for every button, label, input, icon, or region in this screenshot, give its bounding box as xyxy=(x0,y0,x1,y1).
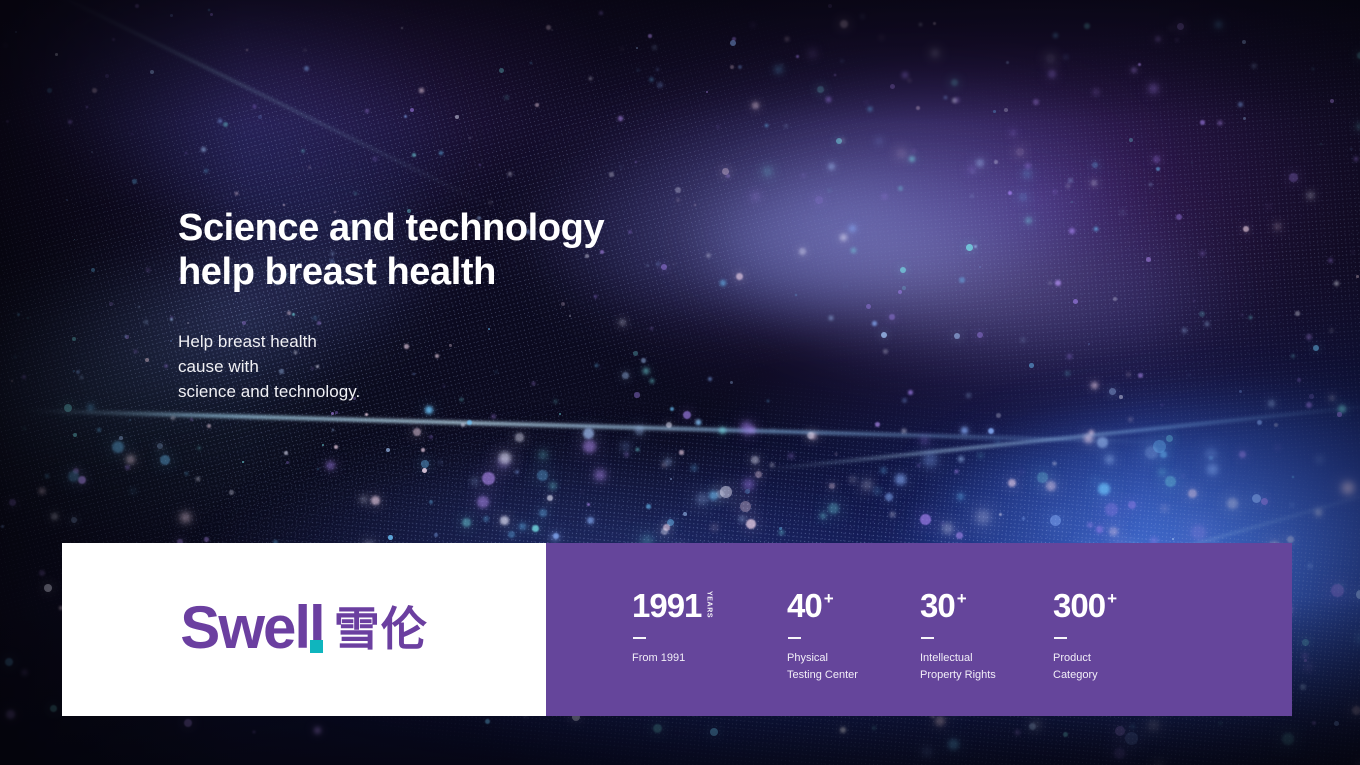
stat-label-line-1: From 1991 xyxy=(632,652,685,664)
stat-number: 1991 xyxy=(632,589,701,622)
page-title-line-2: help breast health xyxy=(178,251,496,293)
page-title: Science and technology help breast healt… xyxy=(178,207,818,294)
page-title-line-1: Science and technology xyxy=(178,207,604,249)
stat-value: 300+ xyxy=(1053,589,1186,622)
brand-chinese-name: 雪伦 xyxy=(334,606,428,655)
stat-label-line-2: Category xyxy=(1053,669,1098,681)
stat-superscript: + xyxy=(957,590,966,607)
stat-divider-rule xyxy=(788,637,801,639)
stat-value: 1991YEARS xyxy=(632,589,787,622)
hero-subtitle-line-2: cause with xyxy=(178,357,259,376)
stat-divider-rule xyxy=(921,637,934,639)
stat-number: 300 xyxy=(1053,589,1105,622)
stat-label: IntellectualProperty Rights xyxy=(920,650,1053,684)
stat-number: 40 xyxy=(787,589,822,622)
stat-label-line-2: Testing Center xyxy=(787,669,858,681)
stat-label-line-1: Intellectual xyxy=(920,652,973,664)
stat-vertical-tag: YEARS xyxy=(705,591,712,618)
stat-item: 40+PhysicalTesting Center xyxy=(787,589,920,684)
stat-divider-rule xyxy=(1054,637,1067,639)
stat-number: 30 xyxy=(920,589,955,622)
brand-wordmark-text: Swell xyxy=(180,594,323,661)
slide-canvas: Science and technology help breast healt… xyxy=(0,0,1360,765)
stat-superscript: + xyxy=(1107,590,1116,607)
brand-logo: Swell 雪伦 xyxy=(180,600,427,655)
stat-label-line-1: Product xyxy=(1053,652,1091,664)
stat-value: 40+ xyxy=(787,589,920,622)
stat-label: PhysicalTesting Center xyxy=(787,650,920,684)
stat-label-line-1: Physical xyxy=(787,652,828,664)
stat-item: 30+IntellectualProperty Rights xyxy=(920,589,1053,684)
stat-value: 30+ xyxy=(920,589,1053,622)
stat-superscript: + xyxy=(824,590,833,607)
teal-accent-square-icon xyxy=(310,640,323,653)
bottom-bar: Swell 雪伦 1991YEARSFrom 199140+PhysicalTe… xyxy=(62,543,1292,716)
hero-subtitle-line-1: Help breast health xyxy=(178,332,317,351)
brand-wordmark: Swell xyxy=(180,600,323,655)
stat-item: 300+ProductCategory xyxy=(1053,589,1186,684)
stat-label-line-2: Property Rights xyxy=(920,669,996,681)
stat-label: ProductCategory xyxy=(1053,650,1186,684)
hero-copy: Science and technology help breast healt… xyxy=(178,207,818,404)
hero-subtitle-line-3: science and technology. xyxy=(178,382,360,401)
stat-divider-rule xyxy=(633,637,646,639)
logo-card: Swell 雪伦 xyxy=(62,543,546,716)
hero-subtitle: Help breast health cause with science an… xyxy=(178,330,818,404)
stats-panel: 1991YEARSFrom 199140+PhysicalTesting Cen… xyxy=(546,543,1292,716)
stat-label: From 1991 xyxy=(632,650,787,667)
stat-item: 1991YEARSFrom 1991 xyxy=(632,589,787,667)
